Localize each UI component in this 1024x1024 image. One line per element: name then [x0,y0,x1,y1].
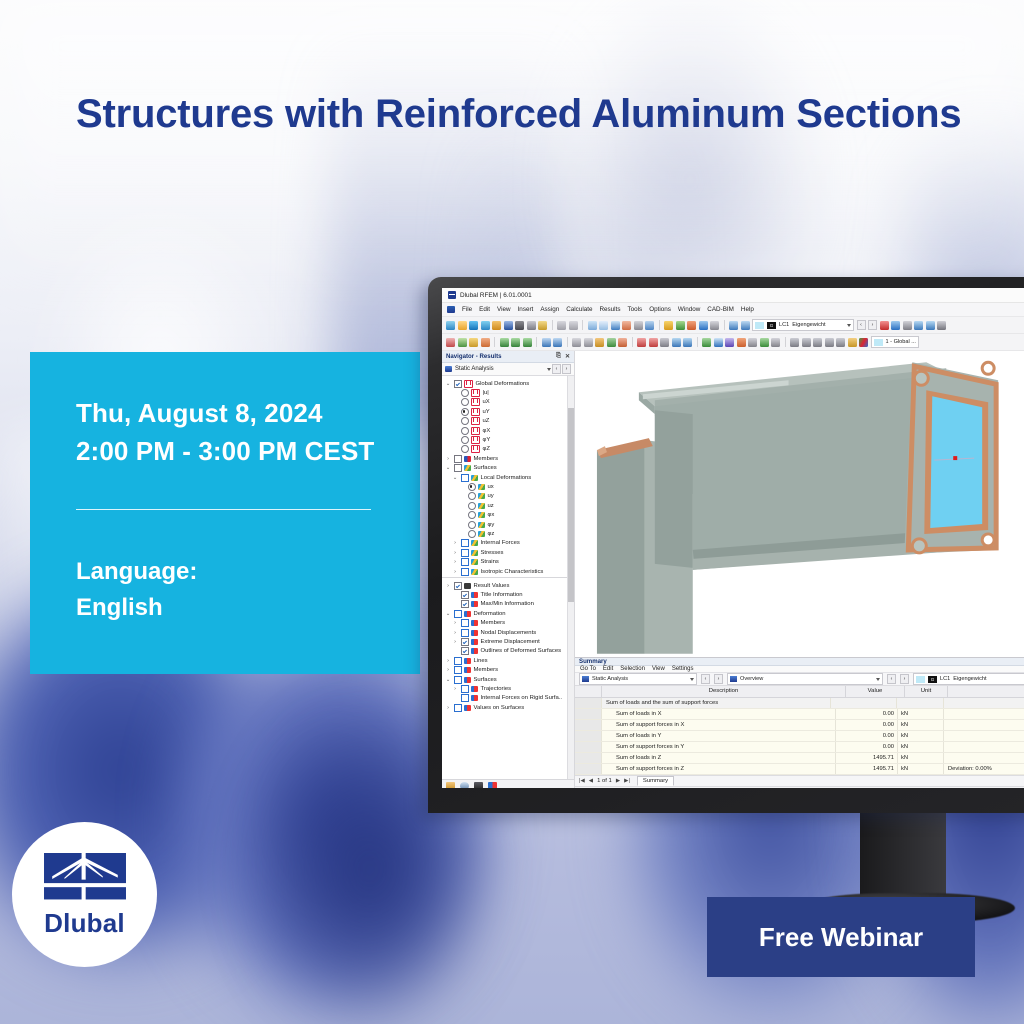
display-properties-tree[interactable]: ›Result ValuesTitle InformationMax/Min I… [442,577,567,779]
navigator-scrollbar[interactable] [567,376,574,779]
toolbar-icon-zoom-in[interactable] [687,321,696,330]
toolbar-icon-new[interactable] [446,321,455,330]
tree-checkbox-checked[interactable] [461,600,469,608]
tree-item-label: Nodal Displacements [481,630,537,636]
tree-item[interactable]: φY [442,435,567,444]
tree-item[interactable]: uy [442,492,567,501]
tree-expander[interactable]: › [445,456,451,462]
toolbar-icon-align-4[interactable] [825,338,834,347]
next-analysis-button[interactable]: › [562,364,571,374]
tree-checkbox-checked[interactable] [454,380,462,388]
tree-checkbox[interactable] [461,568,469,576]
next-page-button[interactable]: ▶ [616,778,620,784]
toolbar-icon-results-2[interactable] [741,321,750,330]
menu-item-file[interactable]: File [462,306,472,313]
tab-views-icon[interactable] [460,782,469,788]
tree-item[interactable]: Outlines of Deformed Surfaces [442,647,567,656]
summary-menu-settings[interactable]: Settings [672,666,694,672]
tree-item-label: φx [488,512,495,518]
toolbar-icon-export[interactable] [481,321,490,330]
tree-item-label: Result Values [474,583,510,589]
tree-item-icon [464,456,471,462]
tree-expander[interactable]: › [452,550,458,556]
cell-note [944,709,1024,719]
menu-item-cad-bim[interactable]: CAD-BIM [707,306,734,313]
summary-view-selector[interactable]: Overview [727,673,883,685]
tree-expander[interactable]: › [452,540,458,546]
tree-item-label: Strains [481,559,499,565]
summary-pager[interactable]: |◀ ◀ 1 of 1 ▶ ▶| Summary [575,775,1024,786]
tab-results-icon[interactable] [488,782,497,788]
tree-item[interactable]: ⌄Global Deformations [442,379,567,388]
toolbar-icon-rotate[interactable] [848,338,857,347]
toolbar-icon-work-plane[interactable] [737,338,746,347]
results-tree[interactable]: ⌄Global Deformations|u|uXuYuZφXφYφZ›Memb… [442,376,567,577]
tree-item[interactable]: ⌄Local Deformations [442,473,567,482]
table-row[interactable]: Sum of loads in Y0.00kN [575,731,1024,742]
toolbar-icon-calc-2[interactable] [649,338,658,347]
cell-description: Sum of loads in Z [602,753,836,763]
tree-item[interactable]: |u| [442,388,567,397]
tree-item[interactable]: ⌄Surfaces [442,464,567,473]
tree-item-icon [478,522,485,528]
tree-radio[interactable] [468,502,476,510]
toolbar-icon-view-split-1[interactable] [588,321,597,330]
analysis-type-value: Static Analysis [455,366,494,372]
tree-checkbox[interactable] [461,558,469,566]
tree-item[interactable]: φy [442,520,567,529]
close-icon[interactable]: ✕ [565,353,570,360]
summary-analysis-prev[interactable]: ‹ [701,674,710,684]
tree-checkbox[interactable] [454,455,462,463]
window-title: Dlubal RFEM | 6.01.0001 [460,292,532,299]
toolbar-icon-import[interactable] [469,321,478,330]
menu-bar[interactable]: File Edit View Insert Assign Calculate R… [442,303,1024,317]
tree-item-icon [478,531,485,537]
tree-expander[interactable]: › [452,686,458,692]
toolbar-icon-align-2[interactable] [802,338,811,347]
cell-unit: kN [898,731,944,741]
first-page-button[interactable]: |◀ [579,778,585,784]
tree-radio[interactable] [468,530,476,538]
toolbar-icon-hinge-2[interactable] [553,338,562,347]
cell-note: Deviation: 0.00% [944,764,1024,774]
tree-item[interactable]: ›Values on Surfaces [442,703,567,712]
tree-item[interactable]: uY [442,407,567,416]
toolbar-icon-align-1[interactable] [790,338,799,347]
table-row[interactable]: Sum of loads in Z1495.71kN [575,753,1024,764]
analysis-type-selector[interactable]: Static Analysis ‹ › [442,363,574,376]
tree-item-label: Local Deformations [481,475,532,481]
toolbar-icon-printout[interactable] [937,321,946,330]
tab-animation-icon[interactable] [474,782,483,788]
toolbar-icon-calc-5[interactable] [683,338,692,347]
tree-item[interactable]: ⌄Surfaces [442,675,567,684]
tree-item[interactable]: φX [442,426,567,435]
tree-item[interactable]: ›Result Values [442,581,567,590]
column-header-value: Value [846,686,905,697]
menu-item-results[interactable]: Results [599,306,620,313]
tree-item[interactable]: ›Stresses [442,548,567,557]
toolbar-icon-support-line[interactable] [511,338,520,347]
tree-item[interactable]: ›Trajectories [442,684,567,693]
menu-item-assign[interactable]: Assign [540,306,559,313]
toolbar-icon-zoom-window[interactable] [676,321,685,330]
tree-item[interactable]: ›Members [442,454,567,463]
toolbar-icon-hinge-1[interactable] [542,338,551,347]
tree-item[interactable]: ›Internal Forces [442,539,567,548]
tree-expander[interactable]: › [445,667,451,673]
toolbar-icon-plane-settings[interactable] [748,338,757,347]
tree-radio[interactable] [461,445,469,453]
event-info-panel: Thu, August 8, 2024 2:00 PM - 3:00 PM CE… [30,352,420,674]
toolbar-icon-view-split-3[interactable] [611,321,620,330]
menu-item-edit[interactable]: Edit [479,306,490,313]
table-row[interactable]: Sum of support forces in Z1495.71kNDevia… [575,764,1024,775]
toolbar-icon-support-surface[interactable] [523,338,532,347]
app-logo-icon [448,291,456,299]
tree-expander[interactable]: › [445,583,451,589]
summary-table-header: Description Value Unit [575,686,1024,698]
event-time: 2:00 PM - 3:00 PM CEST [76,432,420,470]
tree-item-icon [471,417,480,425]
tree-item-icon [471,695,478,701]
tree-expander[interactable]: ⌄ [445,677,451,683]
toolbar-icon-angle[interactable] [836,338,845,347]
prev-load-case-button[interactable]: ‹ [857,320,866,330]
cell-unit: kN [898,753,944,763]
tree-item-label: uz [488,503,494,509]
tree-checkbox-checked[interactable] [461,647,469,655]
tree-expander[interactable]: › [452,569,458,575]
tree-checkbox[interactable] [461,629,469,637]
cell-note [944,720,1024,730]
table-row[interactable]: Sum of loads in X0.00kN [575,709,1024,720]
tree-expander[interactable]: › [445,705,451,711]
toolbar-icon-open[interactable] [458,321,467,330]
toolbar-icon-snap-ortho[interactable] [725,338,734,347]
menu-item-options[interactable]: Options [649,306,671,313]
toolbar-icon-node[interactable] [446,338,455,347]
toolbar-icon-calc-1[interactable] [637,338,646,347]
tree-item[interactable]: ›Isotropic Characteristics [442,567,567,576]
toolbar-separator [567,337,568,347]
tree-item-label: φZ [483,446,490,452]
tree-checkbox-checked[interactable] [454,582,462,590]
tree-item-label: ux [488,484,494,490]
tree-expander[interactable]: ⌄ [445,611,451,617]
tree-item-icon [464,465,471,471]
model-viewport-3d[interactable] [575,351,1024,657]
tree-item-icon [464,667,471,673]
tree-radio[interactable] [461,417,469,425]
toolbar-icon-load-member[interactable] [584,338,593,347]
menu-item-help[interactable]: Help [741,306,754,313]
toolbar-icon-load-nodal[interactable] [572,338,581,347]
menu-item-tools[interactable]: Tools [627,306,642,313]
tree-item[interactable]: ux [442,482,567,491]
color-swatch [916,676,925,683]
toolbar-icon-diagram-1[interactable] [914,321,923,330]
tree-radio[interactable] [461,398,469,406]
next-load-case-button[interactable]: › [868,320,877,330]
tree-radio[interactable] [468,511,476,519]
tree-checkbox[interactable] [461,549,469,557]
monitor-stand-neck [860,812,946,898]
toolbar-icon-panel[interactable] [645,321,654,330]
toolbar-icon-redo[interactable] [569,321,578,330]
toolbar-primary[interactable]: G LC1 Eigengewicht ‹ › [442,317,1024,334]
tree-item-icon [478,484,485,490]
tree-checkbox[interactable] [454,704,462,712]
toolbar-separator [632,337,633,347]
toolbar-icon-zoom-all[interactable] [664,321,673,330]
color-swatch [755,322,764,329]
toolbar-icon-deform[interactable] [891,321,900,330]
table-row-group[interactable]: Sum of loads and the sum of support forc… [575,698,1024,709]
tree-item-label: Internal Forces [481,540,520,546]
tree-item-icon [478,512,485,518]
tree-item-label: φX [483,428,491,434]
tree-item-icon [471,475,478,481]
summary-analysis-next[interactable]: › [714,674,723,684]
tree-checkbox-checked[interactable] [461,638,469,646]
tree-checkbox[interactable] [454,464,462,472]
summary-view-next[interactable]: › [900,674,909,684]
cell-note [944,742,1024,752]
toolbar-icon-render-mode[interactable] [622,321,631,330]
tree-radio[interactable] [461,427,469,435]
table-row[interactable]: Sum of support forces in X0.00kN [575,720,1024,731]
cell-note [944,753,1024,763]
prev-analysis-button[interactable]: ‹ [552,364,561,374]
summary-selectors[interactable]: Static Analysis ‹ › Overview [575,673,1024,686]
tree-radio-selected[interactable] [468,483,476,491]
toolbar-secondary[interactable]: 1 - Global ... [442,334,1024,351]
tree-item[interactable]: uz [442,501,567,510]
tree-item-label: Members [481,620,506,626]
tree-item[interactable]: φx [442,510,567,519]
summary-title: Summary [579,658,607,665]
column-header-unit: Unit [905,686,948,697]
toolbar-icon-member[interactable] [469,338,478,347]
chevron-down-icon[interactable] [847,324,851,327]
tree-item[interactable]: φZ [442,445,567,454]
tree-checkbox[interactable] [454,666,462,674]
summary-table-body[interactable]: Sum of loads and the sum of support forc… [575,698,1024,775]
cell-description: Sum of support forces in Z [602,764,836,774]
toolbar-icon-save[interactable] [504,321,513,330]
tree-radio[interactable] [468,521,476,529]
tree-item-label: Title Information [481,592,523,598]
toolbar-icon-printer-menu[interactable] [527,321,536,330]
tree-item[interactable]: Title Information [442,590,567,599]
cell-value: 0.00 [836,742,898,752]
tree-item-label: Internal Forces on Rigid Surfa.. [481,695,563,701]
summary-load-case-selector[interactable]: G LC1 Eigengewicht [913,673,1024,685]
navigator-header: Navigator - Results ⎘ ✕ [442,351,574,363]
tab-display-icon[interactable] [446,782,455,788]
tree-expander[interactable]: ⌄ [445,465,451,471]
summary-analysis-selector[interactable]: Static Analysis [579,673,697,685]
menu-item-calculate[interactable]: Calculate [566,306,592,313]
tree-checkbox[interactable] [461,474,469,482]
overview-icon [730,676,737,682]
menu-item-insert[interactable]: Insert [518,306,534,313]
summary-view-prev[interactable]: ‹ [887,674,896,684]
tree-expander[interactable]: › [452,630,458,636]
toolbar-icon-grid[interactable] [634,321,643,330]
tree-item-icon [471,648,478,654]
toolbar-icon-view-split-2[interactable] [599,321,608,330]
tab-summary[interactable]: Summary [637,776,674,786]
toolbar-icon-load-free[interactable] [607,338,616,347]
tree-item-icon [464,705,471,711]
toolbar-icon-support-nodal[interactable] [500,338,509,347]
tree-item-label: φz [488,531,495,537]
toolbar-icon-surface[interactable] [481,338,490,347]
tree-radio[interactable] [468,492,476,500]
tree-checkbox[interactable] [454,657,462,665]
summary-menu-edit[interactable]: Edit [603,666,613,672]
menu-item-view[interactable]: View [497,306,511,313]
tree-item[interactable]: ⌄Deformation [442,609,567,618]
toolbar-icon-load-surface[interactable] [595,338,604,347]
tree-item-label: Extreme Displacement [481,639,540,645]
tree-checkbox-checked[interactable] [461,591,469,599]
toolbar-separator [552,320,553,330]
toolbar-icon-results-1[interactable] [729,321,738,330]
table-row[interactable]: Sum of support forces in Y0.00kN [575,742,1024,753]
toolbar-separator [536,337,537,347]
toolbar-icon-align-3[interactable] [813,338,822,347]
toolbar-icon-axes[interactable] [859,338,868,347]
tree-item-label: uy [488,493,494,499]
tree-radio[interactable] [461,389,469,397]
tree-checkbox[interactable] [454,676,462,684]
dlubal-wordmark: Dlubal [44,910,125,936]
tree-item[interactable]: ›Nodal Displacements [442,628,567,637]
tree-item[interactable]: ›Strains [442,557,567,566]
tree-checkbox[interactable] [461,539,469,547]
cell-description: Sum of loads in X [602,709,836,719]
toolbar-icon-animation[interactable] [903,321,912,330]
toolbar-icon-clipboard[interactable] [538,321,547,330]
chevron-down-icon[interactable] [690,678,694,681]
tree-item[interactable]: uX [442,398,567,407]
summary-load-case-name: Eigengewicht [953,676,986,682]
toolbar-icon-line[interactable] [458,338,467,347]
toolbar-icon-calc-4[interactable] [672,338,681,347]
chevron-down-icon[interactable] [876,678,880,681]
cell-value: 0.00 [836,720,898,730]
tree-expander[interactable]: › [445,658,451,664]
scrollbar-thumb[interactable] [568,408,574,601]
toolbar-icon-measure[interactable] [771,338,780,347]
prev-page-button[interactable]: ◀ [589,778,593,784]
monitor-bezel: Dlubal RFEM | 6.01.0001 File Edit View I… [428,277,1024,813]
tree-item[interactable]: Max/Min Information [442,600,567,609]
toolbar-icon-load-imperfection[interactable] [618,338,627,347]
status-bar: SNAP [575,786,1024,788]
last-page-button[interactable]: ▶| [624,778,630,784]
tree-expander[interactable]: › [452,620,458,626]
tree-item[interactable]: φz [442,529,567,538]
toolbar-separator [494,337,495,347]
toolbar-icon-zoom-out[interactable] [699,321,708,330]
tree-item[interactable]: ›Extreme Displacement [442,637,567,646]
tree-checkbox[interactable] [454,610,462,618]
summary-analysis-value: Static Analysis [592,676,628,682]
summary-menu-goto[interactable]: Go To [580,666,596,672]
cell-unit: kN [898,720,944,730]
toolbar-icon-dimension[interactable] [760,338,769,347]
toolbar-icon-project[interactable] [492,321,501,330]
tree-expander[interactable]: › [452,559,458,565]
chevron-down-icon[interactable] [547,368,551,371]
tree-item-label: uY [483,409,490,415]
tree-item-icon [471,427,480,435]
tree-expander[interactable]: › [452,639,458,645]
tree-checkbox[interactable] [461,685,469,693]
summary-menu-bar[interactable]: Go To Edit Selection View Settings [575,666,1024,673]
free-webinar-button[interactable]: Free Webinar [707,897,975,977]
tree-radio[interactable] [461,436,469,444]
tree-item-icon [471,445,480,453]
summary-menu-selection[interactable]: Selection [620,666,645,672]
tree-radio-selected[interactable] [461,408,469,416]
cell-note [944,731,1024,741]
tree-item-icon [478,503,485,509]
load-case-selector[interactable]: G LC1 Eigengewicht [752,319,854,331]
tree-item-label: Outlines of Deformed Surfaces [481,648,562,654]
coordinate-system-selector[interactable]: 1 - Global ... [871,336,919,348]
tree-item[interactable]: uZ [442,417,567,426]
tree-expander[interactable]: ⌄ [445,381,451,387]
page-indicator: 1 of 1 [597,778,612,784]
language-value: English [76,590,420,626]
tree-item[interactable]: ›Members [442,619,567,628]
tree-item-icon [471,398,480,406]
toolbar-icon-diagram-2[interactable] [926,321,935,330]
tree-checkbox[interactable] [461,619,469,627]
tree-item-label: Isotropic Characteristics [481,569,544,575]
tree-item[interactable]: Internal Forces on Rigid Surfa.. [442,694,567,703]
tree-item-icon [478,493,485,499]
tree-checkbox[interactable] [461,694,469,702]
tree-expander[interactable]: ⌄ [452,475,458,481]
toolbar-icon-fit[interactable] [710,321,719,330]
summary-menu-view[interactable]: View [652,666,665,672]
cell-description: Sum of support forces in X [602,720,836,730]
cs-color-swatch [874,339,883,346]
toolbar-icon-snap-object[interactable] [702,338,711,347]
tree-item[interactable]: ›Lines [442,656,567,665]
toolbar-icon-snap-grid[interactable] [714,338,723,347]
toolbar-icon-calc-3[interactable] [660,338,669,347]
group-label: Sum of loads and the sum of support forc… [602,698,831,708]
toolbar-icon-undo[interactable] [557,321,566,330]
tree-item-icon [471,601,478,607]
dock-icon[interactable]: ⎘ [556,353,561,360]
navigator-tabs[interactable] [442,779,574,788]
toolbar-icon-render-colors[interactable] [880,321,889,330]
toolbar-icon-print[interactable] [515,321,524,330]
tree-item-label: Lines [474,658,488,664]
menu-item-window[interactable]: Window [678,306,700,313]
webinar-promo-graphic: Structures with Reinforced Aluminum Sect… [0,0,1024,1024]
tree-item[interactable]: ›Members [442,666,567,675]
